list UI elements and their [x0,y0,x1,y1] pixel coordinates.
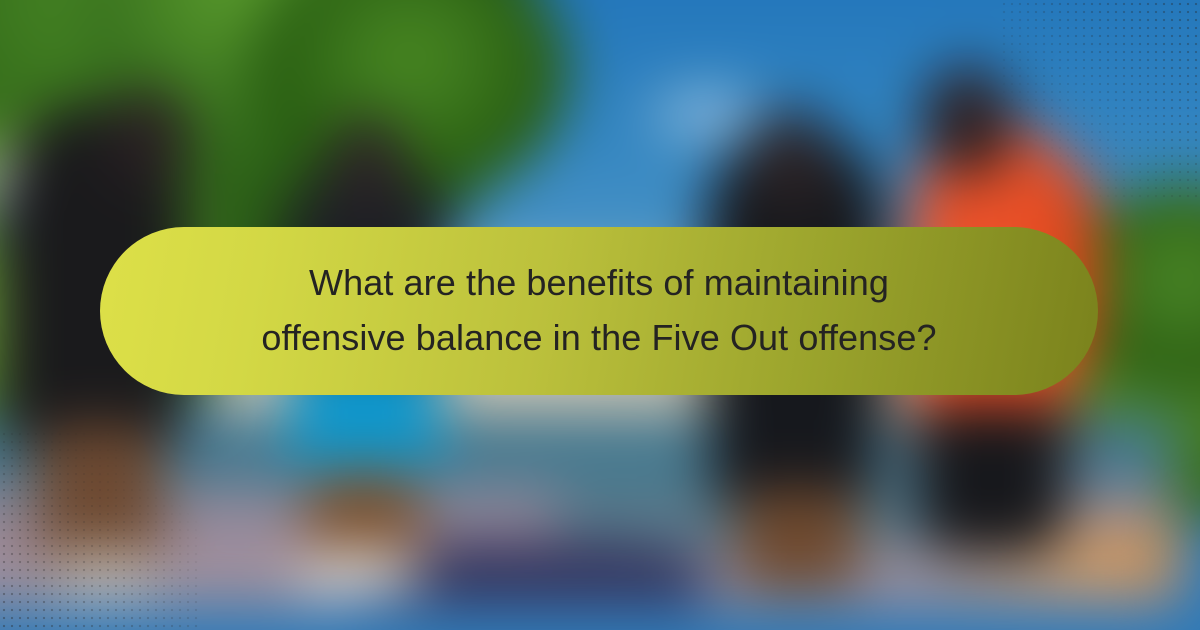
player-figure [920,66,1015,177]
question-card: What are the benefits of maintaining off… [0,0,1200,630]
question-pill: What are the benefits of maintaining off… [100,227,1098,395]
player-figure [330,117,406,208]
player-figure [49,554,160,596]
player-figure [738,490,860,591]
player-figure [918,405,1066,553]
player-figure [295,551,422,591]
question-text: What are the benefits of maintaining off… [234,256,964,365]
player-figure [748,108,833,209]
player-figure [107,87,190,185]
